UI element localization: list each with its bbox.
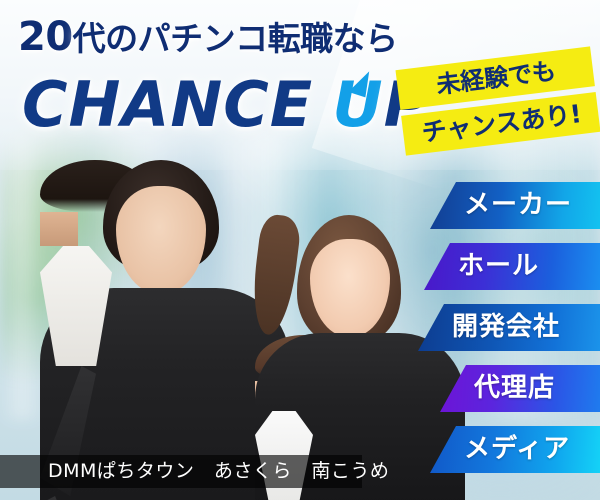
photo-businessman: [40, 160, 290, 500]
category-button-hall[interactable]: ホール: [424, 243, 600, 290]
logo-chance-up: CHANCE UP: [22, 72, 430, 138]
headline-rest: 代のパチンコ転職なら: [73, 19, 398, 58]
category-button-media[interactable]: メディア: [430, 426, 600, 473]
category-button-maker[interactable]: メーカー: [430, 182, 600, 229]
category-button-developer[interactable]: 開発会社: [418, 304, 600, 351]
credit-text: DMMぱちタウン あさくら 南こうめ: [48, 455, 389, 488]
man-neck: [40, 212, 78, 246]
headline-lead-number: 20: [18, 14, 73, 60]
woman-ponytail: [248, 213, 302, 337]
man-face: [116, 186, 206, 294]
logo-word-chance: CHANCE: [22, 68, 313, 141]
category-button-agency[interactable]: 代理店: [440, 365, 600, 412]
promo-banner: 20代のパチンコ転職なら CHANCE UP 未経験でも チャンスあり! メーカ…: [0, 0, 600, 500]
headline-text: 20代のパチンコ転職なら: [18, 14, 398, 62]
